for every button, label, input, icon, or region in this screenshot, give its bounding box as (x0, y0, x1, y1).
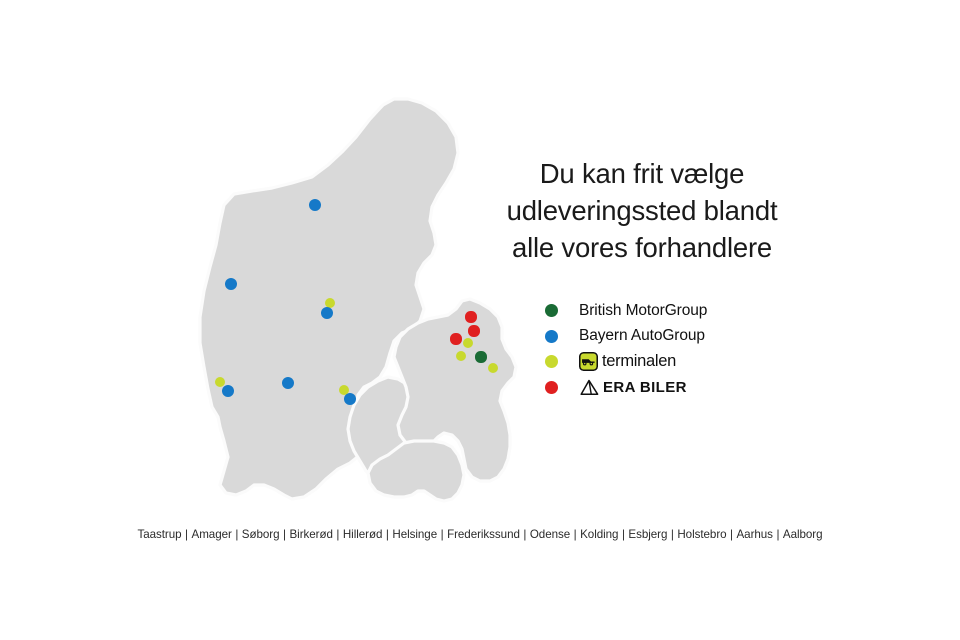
era-biler-logo-icon (579, 379, 600, 396)
slide-canvas: Du kan frit vælge udleveringssted blandt… (0, 0, 960, 640)
legend-item-bayern-autogroup: Bayern AutoGroup (545, 324, 845, 350)
dot-aalborg (309, 199, 321, 211)
page-title: Du kan frit vælge udleveringssted blandt… (468, 155, 816, 266)
city-separator: | (232, 528, 242, 541)
city-separator: | (727, 528, 737, 541)
city-name: Søborg (242, 528, 280, 541)
city-name: Taastrup (137, 528, 181, 541)
city-separator: | (618, 528, 628, 541)
legend: British MotorGroup Bayern AutoGroup term… (545, 298, 845, 400)
legend-label-bayern-autogroup: Bayern AutoGroup (579, 327, 705, 345)
city-list: Taastrup|Amager|Søborg|Birkerød|Hillerød… (0, 528, 960, 541)
terminalen-logo: terminalen (579, 351, 676, 373)
city-separator: | (667, 528, 677, 541)
city-name: Frederikssund (447, 528, 520, 541)
legend-item-terminalen: terminalen (545, 349, 845, 375)
red-dot-icon (545, 381, 558, 394)
dot-esbjerg-blue (222, 385, 234, 397)
city-separator: | (520, 528, 530, 541)
dot-holstebro (225, 278, 237, 290)
legend-item-british-motorgroup: British MotorGroup (545, 298, 845, 324)
city-separator: | (333, 528, 343, 541)
city-name: Esbjerg (628, 528, 667, 541)
city-separator: | (382, 528, 392, 541)
city-separator: | (773, 528, 783, 541)
headline-line-3: alle vores forhandlere (468, 229, 816, 266)
era-biler-logo: ERA BILER (579, 376, 687, 398)
legend-item-era-biler: ERA BILER (545, 375, 845, 401)
terminalen-logo-text: terminalen (602, 352, 676, 371)
city-separator: | (570, 528, 580, 541)
headline-line-2: udleveringssted blandt (468, 192, 816, 229)
green-dot-icon (545, 304, 558, 317)
city-separator: | (280, 528, 290, 541)
city-name: Holstebro (677, 528, 726, 541)
dot-hillerod-red (468, 325, 479, 336)
city-name: Birkerød (289, 528, 332, 541)
dot-kolding-blue (282, 377, 294, 389)
era-biler-logo-text: ERA BILER (603, 379, 687, 396)
city-separator: | (437, 528, 447, 541)
city-name: Hillerød (343, 528, 383, 541)
dot-soborg-green (475, 351, 486, 362)
yellow-dot-icon (545, 355, 558, 368)
city-separator: | (182, 528, 192, 541)
city-name: Aarhus (737, 528, 773, 541)
dot-odense-blue (344, 393, 356, 405)
terminalen-logo-icon (579, 352, 598, 371)
city-name: Amager (192, 528, 232, 541)
city-name: Helsinge (392, 528, 437, 541)
city-name: Odense (530, 528, 570, 541)
blue-dot-icon (545, 330, 558, 343)
city-name: Kolding (580, 528, 618, 541)
dot-helsinge-red (465, 311, 476, 322)
legend-label-british-motorgroup: British MotorGroup (579, 302, 707, 320)
dot-aarhus-blue (321, 307, 333, 319)
headline-line-1: Du kan frit vælge (468, 155, 816, 192)
city-name: Aalborg (783, 528, 823, 541)
dot-frederikssund-red (450, 333, 461, 344)
